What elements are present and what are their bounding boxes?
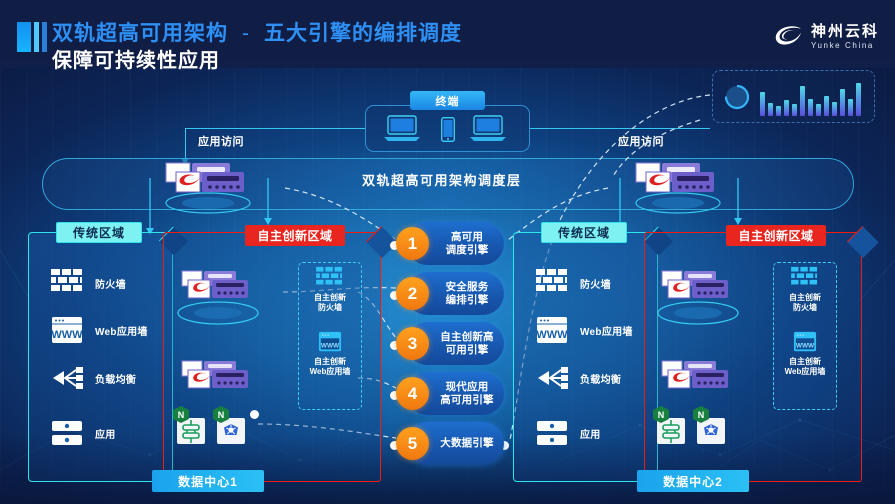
engine-badge-4: 4 — [396, 377, 429, 410]
nginx-kubernetes-icon: N — [212, 406, 246, 446]
sub-label-line1: 自主创新 — [314, 357, 346, 366]
traditional-row-dc2-app: 应用 — [535, 418, 601, 448]
laptop-icon — [468, 115, 508, 143]
phone-icon — [441, 117, 455, 142]
engine-3-line1: 自主创新高 — [440, 331, 494, 343]
traditional-label-dc2-app: 应用 — [580, 426, 601, 441]
innovation-sub-label-dc1-waf: 自主创新 Web应用墙 — [298, 357, 362, 377]
engine-badge-5: 5 — [396, 427, 429, 460]
sub-label-line2: 防火墙 — [793, 303, 817, 312]
innovation-sub-label-dc2-waf: 自主创新 Web应用墙 — [773, 357, 837, 377]
traditional-label-dc1-lb: 负载均衡 — [95, 371, 136, 386]
platform-disc-icon — [176, 300, 260, 326]
svg-text:N: N — [178, 410, 185, 420]
traditional-row-dc2-firewall: 防火墙 — [535, 268, 611, 298]
web-app-wall-icon: WWW — [535, 315, 569, 345]
page-title-line2: 保障可持续性应用 — [52, 44, 220, 73]
firewall-brick-icon — [314, 266, 346, 290]
access-label-right: 应用访问 — [618, 133, 664, 149]
web-app-wall-icon: WWW — [317, 330, 343, 354]
datacenter-tag-2: 数据中心2 — [637, 470, 749, 492]
sub-label-line1: 自主创新 — [314, 293, 346, 302]
nginx-ingress-icon: N — [172, 406, 206, 446]
title-part-b: 五大引擎的编排调度 — [264, 22, 462, 45]
sub-label-line2: Web应用墙 — [785, 367, 826, 376]
appliance-stack-icon — [620, 158, 740, 214]
access-label-left: 应用访问 — [198, 133, 244, 149]
firewall-brick-icon — [535, 268, 569, 298]
innovation-sub-label-dc1-firewall: 自主创新 防火墙 — [298, 293, 362, 313]
engine-badge-1: 1 — [396, 227, 429, 260]
connector-dot — [250, 410, 259, 419]
slide-canvas: 双轨超高可用架构-五大引擎的编排调度 保障可持续性应用 神州云科 Yunke C… — [0, 0, 895, 504]
traditional-label-dc1-firewall: 防火墙 — [95, 276, 126, 291]
web-app-wall-icon: WWW — [50, 315, 84, 345]
innovation-zone-tag-dc1: 自主创新区域 — [245, 225, 345, 246]
load-balancer-icon — [50, 363, 84, 393]
brand-name-cn: 神州云科 — [811, 24, 879, 39]
innovation-sub-label-dc2-firewall: 自主创新 防火墙 — [773, 293, 837, 313]
engine-4-line2: 高可用引擎 — [440, 394, 494, 406]
engine-2-line2: 编排引擎 — [446, 294, 489, 306]
datacenter-tag-1: 数据中心1 — [152, 470, 264, 492]
traditional-row-dc2-waf: WWW Web应用墙 — [535, 315, 633, 345]
svg-text:N: N — [218, 410, 225, 420]
firewall-brick-icon — [50, 268, 84, 298]
engine-item-5[interactable]: 大数据引擎 5 — [396, 422, 504, 467]
traditional-zone-tag-dc1: 传统区域 — [56, 222, 142, 243]
innovation-zone-tag-dc2: 自主创新区域 — [726, 225, 826, 246]
laptop-icon — [382, 115, 422, 143]
engine-1-line1: 高可用 — [451, 231, 483, 243]
engine-4-line1: 现代应用 — [446, 381, 489, 393]
brand-name-en: Yunke China — [811, 42, 879, 50]
innovation-sub-dc2-waf: WWW 自主创新 Web应用墙 — [773, 330, 837, 377]
svg-text:N: N — [698, 410, 705, 420]
nginx-ingress-icon: N — [652, 406, 686, 446]
innovation-sub-dc1-firewall: 自主创新 防火墙 — [298, 266, 362, 313]
bar-chart-icon — [760, 78, 865, 116]
innovation-sub-dc1-waf: WWW 自主创新 Web应用墙 — [298, 330, 362, 377]
terminal-label: 终端 — [410, 91, 485, 110]
sub-label-line1: 自主创新 — [789, 357, 821, 366]
access-line-left-drop — [185, 128, 186, 161]
svg-text:WWW: WWW — [321, 343, 340, 350]
innovation-sub-dc2-firewall: 自主创新 防火墙 — [773, 266, 837, 313]
traditional-row-dc2-lb: 负载均衡 — [535, 363, 621, 393]
title-part-a: 双轨超高可用架构 — [52, 22, 228, 45]
svg-text:WWW: WWW — [796, 343, 815, 350]
engine-item-2[interactable]: 安全服务 编排引擎 2 — [396, 272, 504, 317]
access-line-left — [185, 128, 365, 129]
swoosh-logo-icon — [774, 24, 804, 50]
svg-text:WWW: WWW — [536, 329, 568, 341]
engine-item-4[interactable]: 现代应用 高可用引擎 4 — [396, 372, 504, 417]
scheduling-layer-title: 双轨超高可用架构调度层 — [362, 170, 522, 189]
engine-2-line1: 安全服务 — [446, 281, 489, 293]
svg-text:N: N — [658, 410, 665, 420]
application-server-icon — [535, 418, 569, 448]
brand-logo: 神州云科 Yunke China — [774, 24, 879, 50]
appliance-stack-icon — [660, 360, 732, 398]
title-dash: - — [228, 22, 264, 45]
traditional-zone-tag-dc2: 传统区域 — [541, 222, 627, 243]
traditional-label-dc2-waf: Web应用墙 — [580, 323, 633, 338]
traditional-label-dc1-app: 应用 — [95, 426, 116, 441]
load-balancer-icon — [535, 363, 569, 393]
application-server-icon — [50, 418, 84, 448]
svg-text:WWW: WWW — [51, 329, 83, 341]
appliance-stack-icon — [150, 158, 270, 214]
sub-label-line2: Web应用墙 — [310, 367, 351, 376]
engine-item-1[interactable]: 高可用 调度引擎 1 — [396, 222, 504, 267]
traditional-row-dc1-app: 应用 — [50, 418, 116, 448]
appliance-stack-icon — [180, 360, 252, 398]
traditional-row-dc1-firewall: 防火墙 — [50, 268, 126, 298]
engine-list: 高可用 调度引擎 1 安全服务 编排引擎 2 自主创新高 可用引擎 — [396, 222, 504, 472]
access-line-right — [530, 128, 710, 129]
web-app-wall-icon: WWW — [792, 330, 818, 354]
traditional-row-dc1-waf: WWW Web应用墙 — [50, 315, 148, 345]
engine-1-line2: 调度引擎 — [446, 244, 489, 256]
firewall-brick-icon — [789, 266, 821, 290]
platform-disc-icon — [656, 300, 740, 326]
donut-chart-icon — [724, 84, 750, 110]
traditional-label-dc2-firewall: 防火墙 — [580, 276, 611, 291]
page-title-line1: 双轨超高可用架构-五大引擎的编排调度 — [52, 17, 462, 47]
engine-badge-2: 2 — [396, 277, 429, 310]
engine-item-3[interactable]: 自主创新高 可用引擎 3 — [396, 322, 504, 367]
traditional-label-dc2-lb: 负载均衡 — [580, 371, 621, 386]
sub-label-line2: 防火墙 — [318, 303, 342, 312]
title-accent-bars-icon — [17, 22, 47, 52]
engine-5-line1: 大数据引擎 — [440, 437, 494, 449]
traditional-label-dc1-waf: Web应用墙 — [95, 323, 148, 338]
engine-badge-3: 3 — [396, 327, 429, 360]
traditional-row-dc1-lb: 负载均衡 — [50, 363, 136, 393]
engine-3-line2: 可用引擎 — [446, 344, 489, 356]
nginx-kubernetes-icon: N — [692, 406, 726, 446]
sub-label-line1: 自主创新 — [789, 293, 821, 302]
